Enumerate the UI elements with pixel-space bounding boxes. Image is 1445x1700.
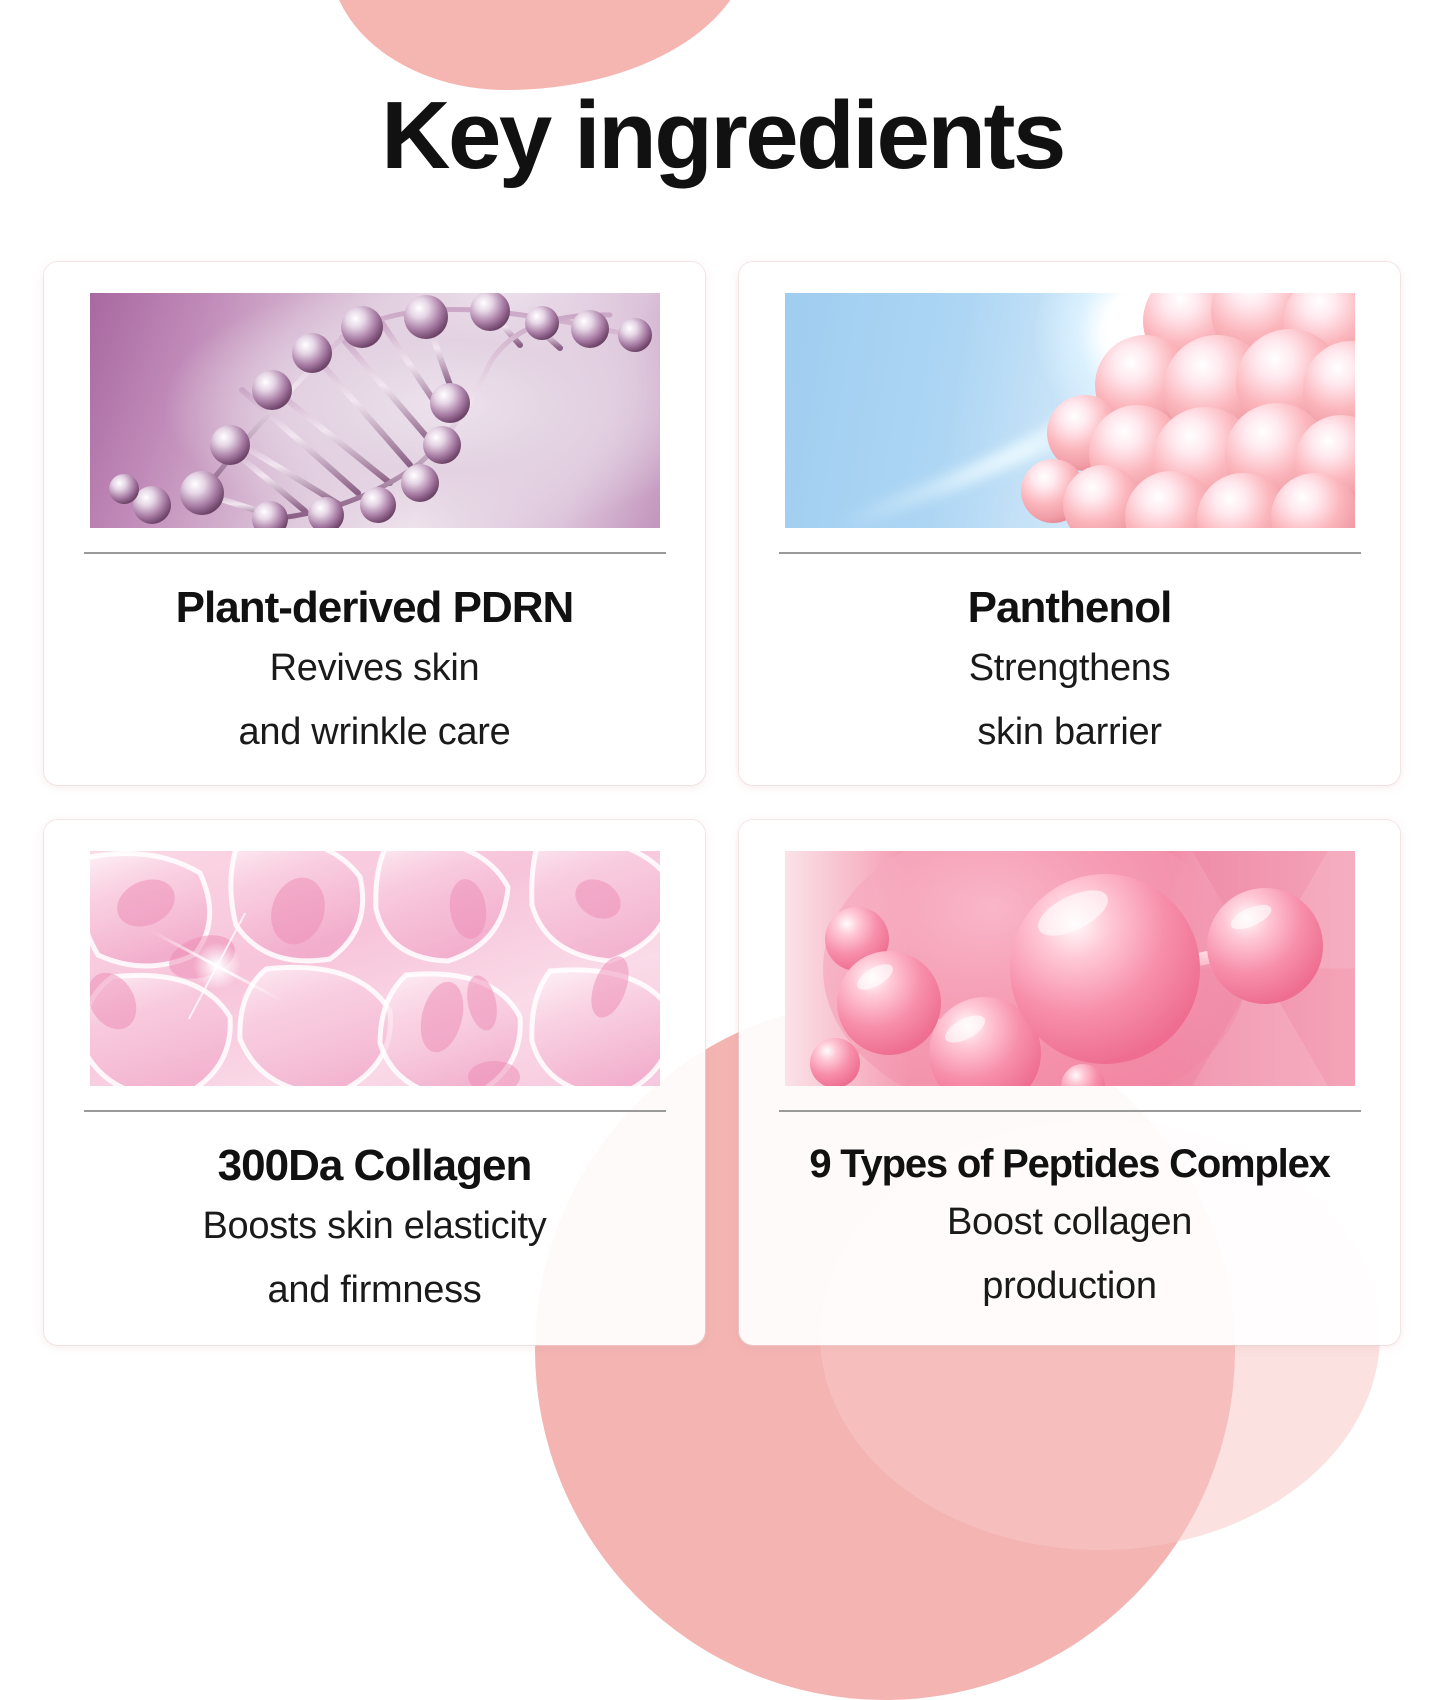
card-divider [779, 552, 1361, 554]
ingredient-card-peptides[interactable]: 9 Types of Peptides Complex Boost collag… [739, 820, 1400, 1345]
ingredient-card-pdrn[interactable]: Plant-derived PDRN Revives skin and wrin… [44, 262, 705, 785]
decorative-pink-blob-top [330, 0, 750, 90]
card-title: Plant-derived PDRN [176, 584, 574, 632]
card-body-line-2: and firmness [268, 1264, 482, 1318]
card-body-line-1: Boost collagen [947, 1196, 1192, 1250]
ingredient-card-panthenol[interactable]: Panthenol Strengthens skin barrier [739, 262, 1400, 785]
card-title: 9 Types of Peptides Complex [809, 1142, 1329, 1186]
card-title: 300Da Collagen [218, 1142, 532, 1190]
sparkle-highlight [182, 931, 252, 1001]
pink-pearl-cluster-blue-sky-illustration [785, 293, 1355, 528]
card-divider [84, 552, 666, 554]
card-body-line-2: skin barrier [977, 706, 1161, 760]
pink-translucent-cells-illustration [90, 851, 660, 1086]
ingredient-card-collagen[interactable]: 300Da Collagen Boosts skin elasticity an… [44, 820, 705, 1345]
pink-molecule-honeycomb-illustration [785, 851, 1355, 1086]
card-body-line-1: Strengthens [969, 642, 1171, 696]
page-title: Key ingredients [0, 88, 1445, 184]
card-body-line-2: and wrinkle care [239, 706, 511, 760]
card-divider [779, 1110, 1361, 1112]
card-body-line-1: Boosts skin elasticity [203, 1200, 547, 1254]
card-body-line-1: Revives skin [270, 642, 480, 696]
card-body-line-2: production [982, 1260, 1156, 1314]
card-title: Panthenol [968, 584, 1172, 632]
ingredient-card-grid: Plant-derived PDRN Revives skin and wrin… [44, 262, 1400, 1345]
dna-double-helix-illustration [90, 293, 660, 528]
card-divider [84, 1110, 666, 1112]
